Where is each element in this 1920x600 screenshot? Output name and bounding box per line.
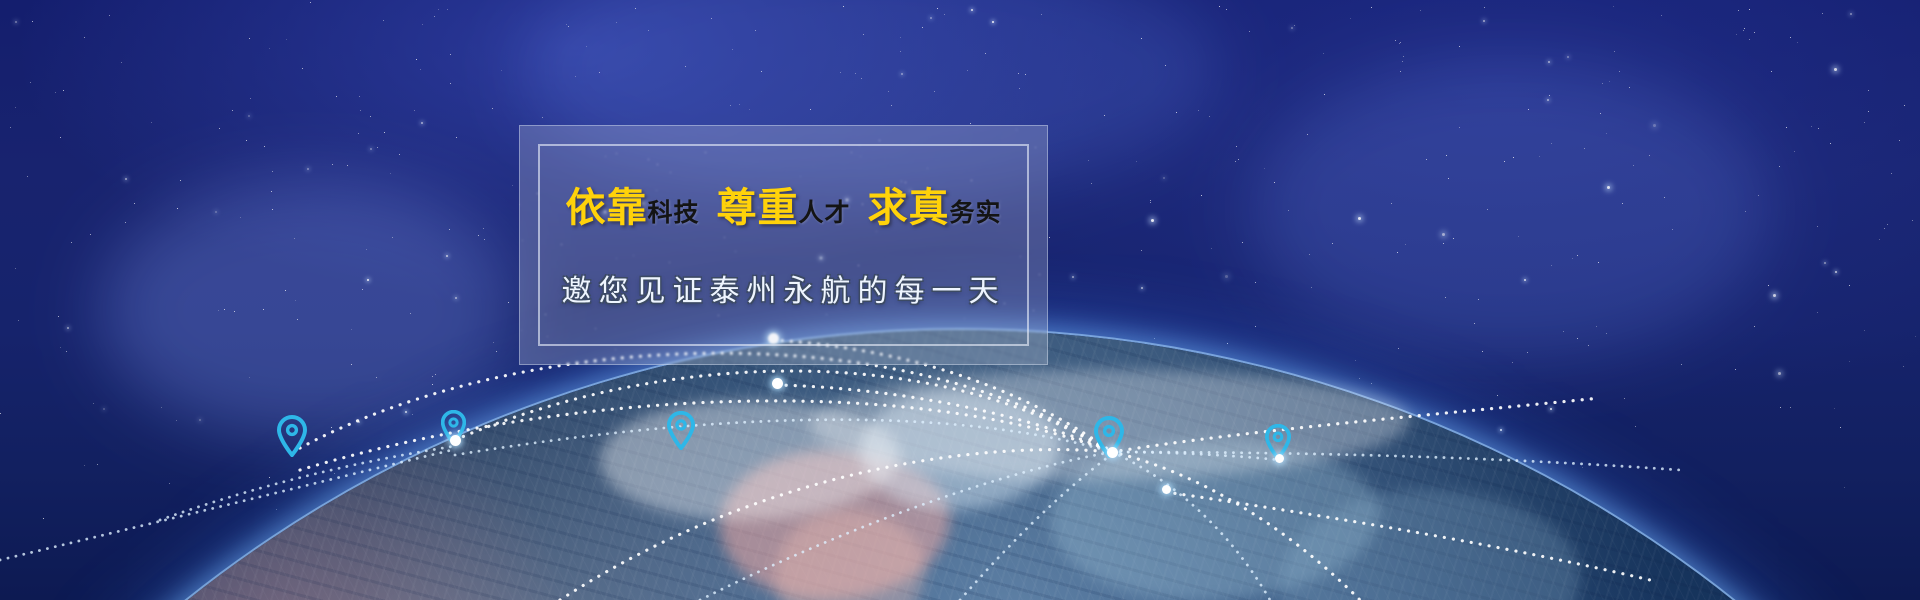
star: [1198, 110, 1199, 111]
headline-segment-1: 依靠: [565, 185, 647, 230]
star: [1161, 419, 1162, 420]
star: [992, 21, 994, 23]
landmass-asia: [1280, 490, 1580, 600]
star: [1539, 156, 1540, 157]
hub-dot-south: [1162, 485, 1171, 494]
star: [125, 222, 126, 223]
star: [1745, 211, 1746, 212]
star: [1797, 42, 1798, 43]
star: [730, 105, 731, 106]
star: [1500, 429, 1502, 431]
star: [1165, 65, 1166, 66]
star: [1358, 217, 1361, 220]
star: [1391, 203, 1392, 204]
star: [43, 518, 44, 519]
star: [250, 98, 251, 99]
star: [1834, 68, 1837, 71]
star: [272, 171, 273, 172]
star: [1912, 220, 1913, 221]
star: [60, 347, 61, 348]
star: [249, 38, 250, 39]
star: [32, 21, 33, 22]
map-pin-icon: [441, 410, 466, 445]
star: [1397, 252, 1398, 253]
star: [1274, 459, 1275, 460]
star: [434, 16, 435, 17]
star: [1398, 348, 1399, 349]
star: [15, 268, 16, 269]
star: [1824, 262, 1826, 264]
star: [1459, 127, 1460, 128]
star: [332, 164, 333, 165]
star: [584, 498, 585, 499]
star: [1400, 71, 1401, 72]
star: [1209, 116, 1210, 117]
star: [367, 279, 369, 281]
star: [1442, 233, 1445, 236]
star: [1868, 90, 1869, 91]
star: [1371, 383, 1372, 384]
star: [1786, 127, 1787, 128]
star: [1113, 354, 1115, 356]
star: [855, 73, 856, 74]
star: [1864, 330, 1865, 331]
star: [97, 464, 98, 465]
star: [263, 309, 264, 310]
star: [1850, 13, 1852, 15]
headline-segment-2: 科技: [647, 200, 699, 227]
star: [1403, 56, 1404, 57]
map-pin-icon: [1094, 416, 1124, 458]
star: [1163, 177, 1165, 179]
marker-far-east: [1265, 424, 1291, 465]
star: [484, 239, 485, 240]
star: [1053, 400, 1054, 401]
star: [1216, 513, 1217, 514]
star: [575, 76, 576, 77]
nebula-glow-left: [100, 180, 520, 440]
star: [1274, 182, 1275, 183]
star: [1242, 242, 1243, 243]
star: [1584, 148, 1585, 149]
star: [1607, 186, 1610, 189]
star: [390, 173, 391, 174]
star: [1596, 326, 1597, 327]
star: [1478, 299, 1479, 300]
star: [971, 9, 973, 11]
star: [0, 413, 1, 414]
star: [1572, 258, 1573, 259]
star: [501, 70, 502, 71]
star: [1249, 31, 1250, 32]
star: [449, 229, 450, 230]
star: [1445, 297, 1446, 298]
star: [295, 300, 296, 301]
star: [1264, 168, 1265, 169]
landmass-americas: [720, 450, 950, 600]
star: [334, 473, 335, 474]
star: [151, 122, 152, 123]
star: [1600, 113, 1601, 114]
star: [370, 116, 371, 117]
star: [579, 436, 580, 437]
star: [1915, 336, 1916, 337]
star: [1371, 7, 1372, 8]
star: [1350, 18, 1351, 19]
star: [1551, 143, 1552, 144]
star: [1420, 10, 1421, 11]
cloud-swirl: [600, 400, 900, 520]
star: [891, 105, 892, 106]
star: [970, 123, 971, 124]
star: [749, 109, 750, 110]
star: [810, 109, 811, 110]
star: [1141, 38, 1142, 39]
star: [1577, 255, 1578, 256]
star: [1744, 28, 1745, 29]
star: [1176, 112, 1177, 113]
star: [1227, 343, 1228, 344]
star: [1887, 224, 1888, 225]
star: [1635, 426, 1636, 427]
earth-atmosphere-rim: [0, 330, 1920, 600]
star: [15, 107, 16, 108]
star: [416, 59, 417, 60]
star: [1151, 219, 1154, 222]
star: [362, 289, 363, 290]
headline-segment-3: 尊重: [716, 185, 798, 230]
landmass-americas-lower: [775, 510, 925, 600]
star: [435, 374, 436, 375]
star: [1548, 61, 1550, 63]
star: [1619, 71, 1620, 72]
earth-sphere: [0, 330, 1920, 600]
star: [732, 49, 733, 50]
star: [1602, 83, 1603, 84]
star: [1790, 37, 1791, 38]
star: [310, 2, 311, 3]
star: [1072, 427, 1074, 429]
star: [90, 234, 91, 235]
star: [1768, 285, 1769, 286]
star: [1588, 345, 1589, 346]
star: [169, 483, 170, 484]
star: [392, 237, 393, 238]
star: [1446, 155, 1447, 156]
star: [1459, 46, 1460, 47]
star: [616, 22, 617, 23]
star: [84, 465, 85, 466]
star: [456, 137, 457, 138]
star: [1154, 338, 1155, 339]
slogan-panel-inner-border: [538, 144, 1029, 346]
star: [840, 72, 841, 73]
star: [109, 15, 110, 16]
star: [985, 53, 986, 54]
star: [30, 82, 31, 83]
star: [1817, 312, 1818, 313]
star: [1549, 95, 1550, 96]
star: [1738, 10, 1739, 11]
star: [347, 165, 348, 166]
star: [1598, 262, 1599, 263]
star: [1323, 53, 1324, 54]
star: [18, 320, 19, 321]
star: [269, 48, 270, 49]
hub-dot-far-east: [1275, 454, 1284, 463]
star: [450, 54, 451, 55]
star: [234, 311, 235, 312]
star: [1771, 71, 1772, 72]
star: [1899, 140, 1900, 141]
star: [58, 316, 59, 317]
star: [219, 128, 220, 129]
star: [1664, 197, 1665, 198]
star: [60, 137, 61, 138]
star: [1518, 236, 1519, 237]
star: [286, 39, 287, 40]
star: [1582, 467, 1583, 468]
star: [863, 34, 864, 35]
star: [180, 180, 181, 181]
star: [1606, 133, 1607, 134]
star: [478, 235, 479, 236]
star: [1088, 160, 1089, 161]
star: [1453, 238, 1454, 239]
star: [1126, 413, 1127, 414]
star: [937, 8, 938, 9]
star: [1879, 239, 1880, 240]
star: [1201, 195, 1202, 196]
star: [421, 122, 423, 124]
star: [1736, 34, 1737, 35]
star: [1255, 282, 1256, 283]
star: [1019, 88, 1020, 89]
star: [121, 62, 122, 63]
star: [1758, 195, 1759, 196]
star: [566, 24, 567, 25]
star: [599, 72, 600, 73]
slogan-headline: 依靠科技尊重人才求真务实: [520, 188, 1047, 228]
star: [512, 185, 513, 186]
hub-dot-mid: [772, 378, 783, 389]
star: [1513, 157, 1514, 158]
star: [405, 411, 407, 413]
star: [1201, 421, 1202, 422]
star: [1497, 395, 1498, 396]
star: [930, 17, 932, 19]
star: [1150, 202, 1151, 203]
star: [1484, 7, 1485, 8]
cloud-band-north: [810, 370, 1410, 480]
star: [1817, 226, 1818, 227]
star: [1778, 372, 1781, 375]
star: [1399, 43, 1400, 44]
star: [432, 376, 433, 377]
nebula-glow-right: [1250, 60, 1770, 360]
star: [447, 9, 448, 10]
star: [1884, 228, 1885, 229]
star: [1749, 9, 1750, 10]
star: [177, 208, 178, 209]
banner-stage: .fp { fill:none; stroke:#ffffff; stroke-…: [0, 0, 1920, 600]
headline-segment-6: 务实: [950, 200, 1002, 227]
star: [1844, 487, 1845, 488]
star: [1567, 56, 1569, 58]
star: [542, 117, 543, 118]
star: [967, 70, 968, 71]
star: [1550, 408, 1552, 410]
star: [215, 211, 217, 213]
star: [1614, 51, 1615, 52]
star: [161, 407, 162, 408]
star: [905, 421, 906, 422]
star: [1624, 398, 1625, 399]
star: [1256, 507, 1257, 508]
map-pin-icon: [667, 411, 695, 450]
star: [568, 26, 569, 27]
star: [331, 427, 332, 428]
star: [1794, 151, 1795, 152]
star: [1563, 331, 1564, 332]
star: [410, 313, 411, 314]
star: [905, 440, 907, 442]
star: [1547, 99, 1549, 101]
star: [1443, 243, 1444, 244]
star: [1483, 20, 1485, 22]
star: [1649, 155, 1650, 156]
star: [1577, 338, 1578, 339]
star: [285, 290, 286, 291]
star: [1504, 161, 1505, 162]
landmass-greenland: [860, 390, 1060, 510]
star: [635, 8, 636, 9]
star: [1072, 276, 1074, 278]
star: [134, 203, 135, 204]
star: [1790, 407, 1791, 408]
star: [1359, 378, 1360, 379]
star: [1311, 287, 1312, 288]
star: [1405, 244, 1406, 245]
star: [1141, 250, 1142, 251]
star: [922, 27, 923, 28]
star: [1681, 364, 1682, 365]
star: [1049, 237, 1050, 238]
star: [1528, 109, 1529, 110]
star: [55, 92, 56, 93]
star: [176, 420, 177, 421]
star: [1830, 143, 1831, 144]
star: [366, 249, 367, 250]
star: [1629, 87, 1630, 88]
star: [1018, 73, 1019, 74]
star: [508, 302, 509, 303]
star: [648, 30, 649, 31]
star: [888, 91, 889, 92]
star: [1849, 361, 1850, 362]
star: [27, 176, 28, 177]
landmass-eurasia: [1050, 440, 1380, 600]
star: [1754, 326, 1755, 327]
headline-segment-4: 人才: [798, 200, 850, 227]
star: [224, 309, 225, 310]
star: [944, 14, 945, 15]
star: [798, 454, 799, 455]
star: [1903, 366, 1904, 367]
star: [1219, 6, 1220, 7]
hub-dot-east: [1107, 447, 1118, 458]
star: [1773, 294, 1776, 297]
headline-segment-5: 求真: [868, 185, 950, 230]
star: [1661, 15, 1662, 16]
map-pin-icon: [1265, 424, 1291, 460]
star: [540, 470, 541, 471]
star: [1512, 362, 1513, 363]
star: [272, 209, 273, 210]
star: [240, 217, 241, 218]
star: [1402, 61, 1403, 62]
star: [843, 6, 844, 7]
star: [951, 423, 954, 426]
map-pin-icon: [277, 415, 307, 457]
star: [271, 191, 272, 192]
star: [685, 66, 686, 67]
star: [1389, 440, 1390, 441]
star: [232, 110, 233, 111]
slogan-panel: 依靠科技尊重人才求真务实 邀您见证泰州永航的每一天: [519, 125, 1048, 365]
star: [450, 83, 451, 84]
star: [276, 509, 277, 510]
star: [297, 319, 298, 320]
star: [294, 238, 295, 239]
star: [1136, 161, 1137, 162]
star: [1291, 27, 1293, 29]
star: [1343, 451, 1344, 452]
star: [1150, 200, 1151, 201]
star: [383, 20, 384, 21]
star: [422, 24, 423, 25]
star: [1236, 146, 1237, 147]
star: [1840, 427, 1841, 428]
star: [1527, 352, 1528, 353]
star: [420, 69, 421, 70]
star: [1180, 437, 1181, 438]
star: [761, 71, 762, 72]
star: [248, 115, 250, 117]
star: [1811, 126, 1812, 127]
star: [1091, 183, 1092, 184]
star: [1324, 94, 1325, 95]
star: [1395, 40, 1396, 41]
star: [1743, 30, 1744, 31]
star: [1613, 6, 1614, 7]
star: [84, 37, 85, 38]
star: [1309, 254, 1310, 255]
star: [586, 46, 587, 47]
star: [438, 9, 439, 10]
star: [1482, 351, 1483, 352]
star: [1735, 369, 1736, 370]
star: [1849, 285, 1850, 286]
marker-north-atlantic: [441, 410, 466, 450]
star: [492, 108, 493, 109]
star: [1025, 74, 1026, 75]
star: [755, 30, 756, 31]
star: [376, 377, 377, 378]
marker-east-asia: [1094, 416, 1124, 463]
star: [1294, 25, 1295, 26]
star: [1400, 42, 1401, 43]
